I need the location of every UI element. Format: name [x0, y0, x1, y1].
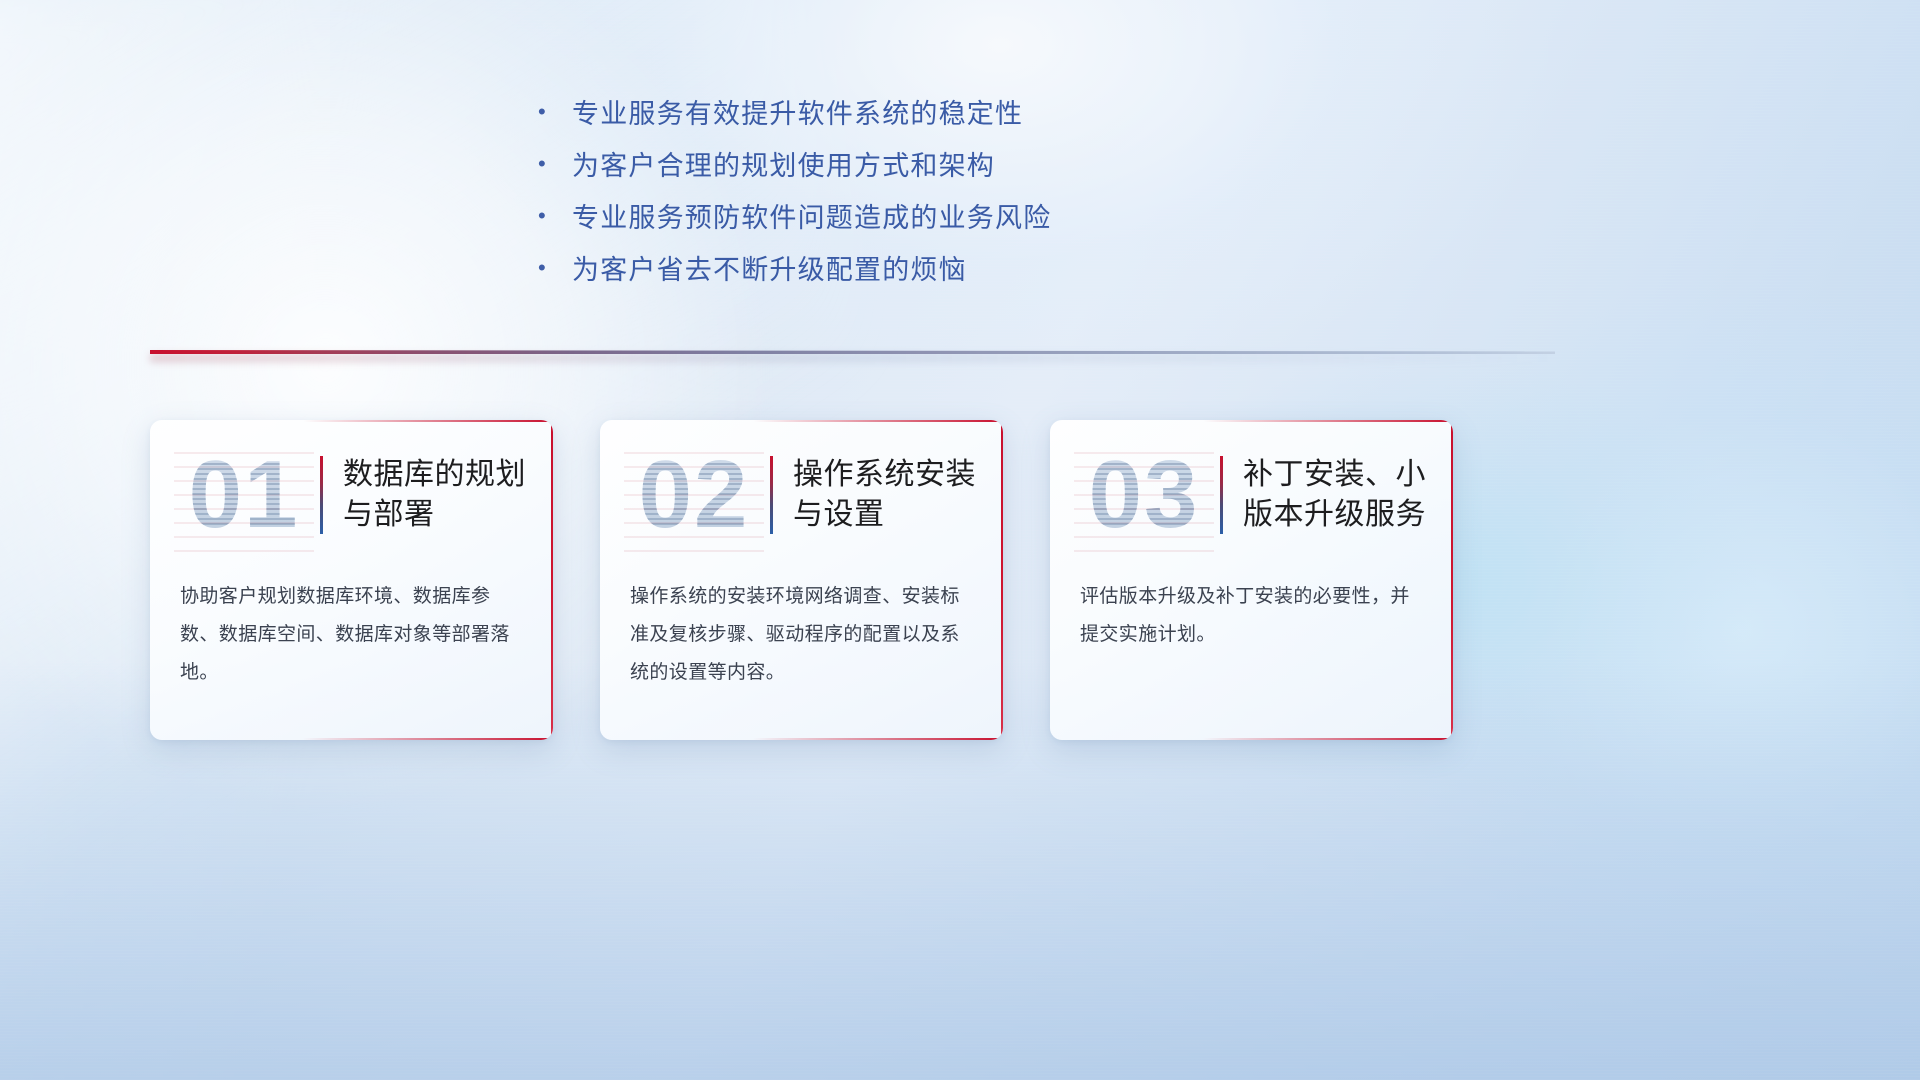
- section-divider-shadow: [150, 354, 1555, 362]
- card-body-text: 操作系统的安装环境网络调查、安装标准及复核步骤、驱动程序的配置以及系统的设置等内…: [600, 570, 1003, 692]
- list-item: • 为客户省去不断升级配置的烦恼: [538, 248, 1238, 300]
- bullet-text: 为客户合理的规划使用方式和架构: [572, 144, 995, 183]
- card-title: 补丁安装、小版本升级服务: [1243, 455, 1453, 536]
- card-header: 03 补丁安装、小版本升级服务: [1050, 420, 1453, 570]
- card-body-text: 评估版本升级及补丁安装的必要性，并提交实施计划。: [1050, 570, 1453, 654]
- bullet-text: 为客户省去不断升级配置的烦恼: [572, 248, 967, 287]
- card-accent-bottom: [1203, 738, 1453, 740]
- list-item: • 专业服务预防软件问题造成的业务风险: [538, 196, 1238, 248]
- card-title: 操作系统安装与设置: [793, 455, 1003, 536]
- card-header: 01 数据库的规划与部署: [150, 420, 553, 570]
- card-number: 03: [1074, 440, 1214, 550]
- bullet-text: 专业服务预防软件问题造成的业务风险: [572, 196, 1051, 235]
- bullet-dot-icon: •: [538, 153, 572, 175]
- section-divider-line: [150, 350, 1555, 354]
- list-item: • 专业服务有效提升软件系统的稳定性: [538, 92, 1238, 144]
- bullet-dot-icon: •: [538, 257, 572, 279]
- list-item: • 为客户合理的规划使用方式和架构: [538, 144, 1238, 196]
- service-card-list: 01 数据库的规划与部署 协助客户规划数据库环境、数据库参数、数据库空间、数据库…: [150, 420, 1453, 740]
- card-title-divider: [320, 456, 323, 534]
- card-body-text: 协助客户规划数据库环境、数据库参数、数据库空间、数据库对象等部署落地。: [150, 570, 553, 692]
- card-title: 数据库的规划与部署: [343, 455, 553, 536]
- card-number: 01: [174, 440, 314, 550]
- card-header: 02 操作系统安装与设置: [600, 420, 1003, 570]
- benefits-bullet-list: • 专业服务有效提升软件系统的稳定性 • 为客户合理的规划使用方式和架构 • 专…: [538, 92, 1238, 300]
- service-card-02[interactable]: 02 操作系统安装与设置 操作系统的安装环境网络调查、安装标准及复核步骤、驱动程…: [600, 420, 1003, 740]
- card-title-divider: [1220, 456, 1223, 534]
- card-accent-bottom: [303, 738, 553, 740]
- card-title-divider: [770, 456, 773, 534]
- card-accent-bottom: [753, 738, 1003, 740]
- bullet-dot-icon: •: [538, 101, 572, 123]
- bullet-dot-icon: •: [538, 205, 572, 227]
- bullet-text: 专业服务有效提升软件系统的稳定性: [572, 92, 1023, 131]
- section-divider: [150, 344, 1555, 366]
- service-card-01[interactable]: 01 数据库的规划与部署 协助客户规划数据库环境、数据库参数、数据库空间、数据库…: [150, 420, 553, 740]
- service-card-03[interactable]: 03 补丁安装、小版本升级服务 评估版本升级及补丁安装的必要性，并提交实施计划。: [1050, 420, 1453, 740]
- card-number: 02: [624, 440, 764, 550]
